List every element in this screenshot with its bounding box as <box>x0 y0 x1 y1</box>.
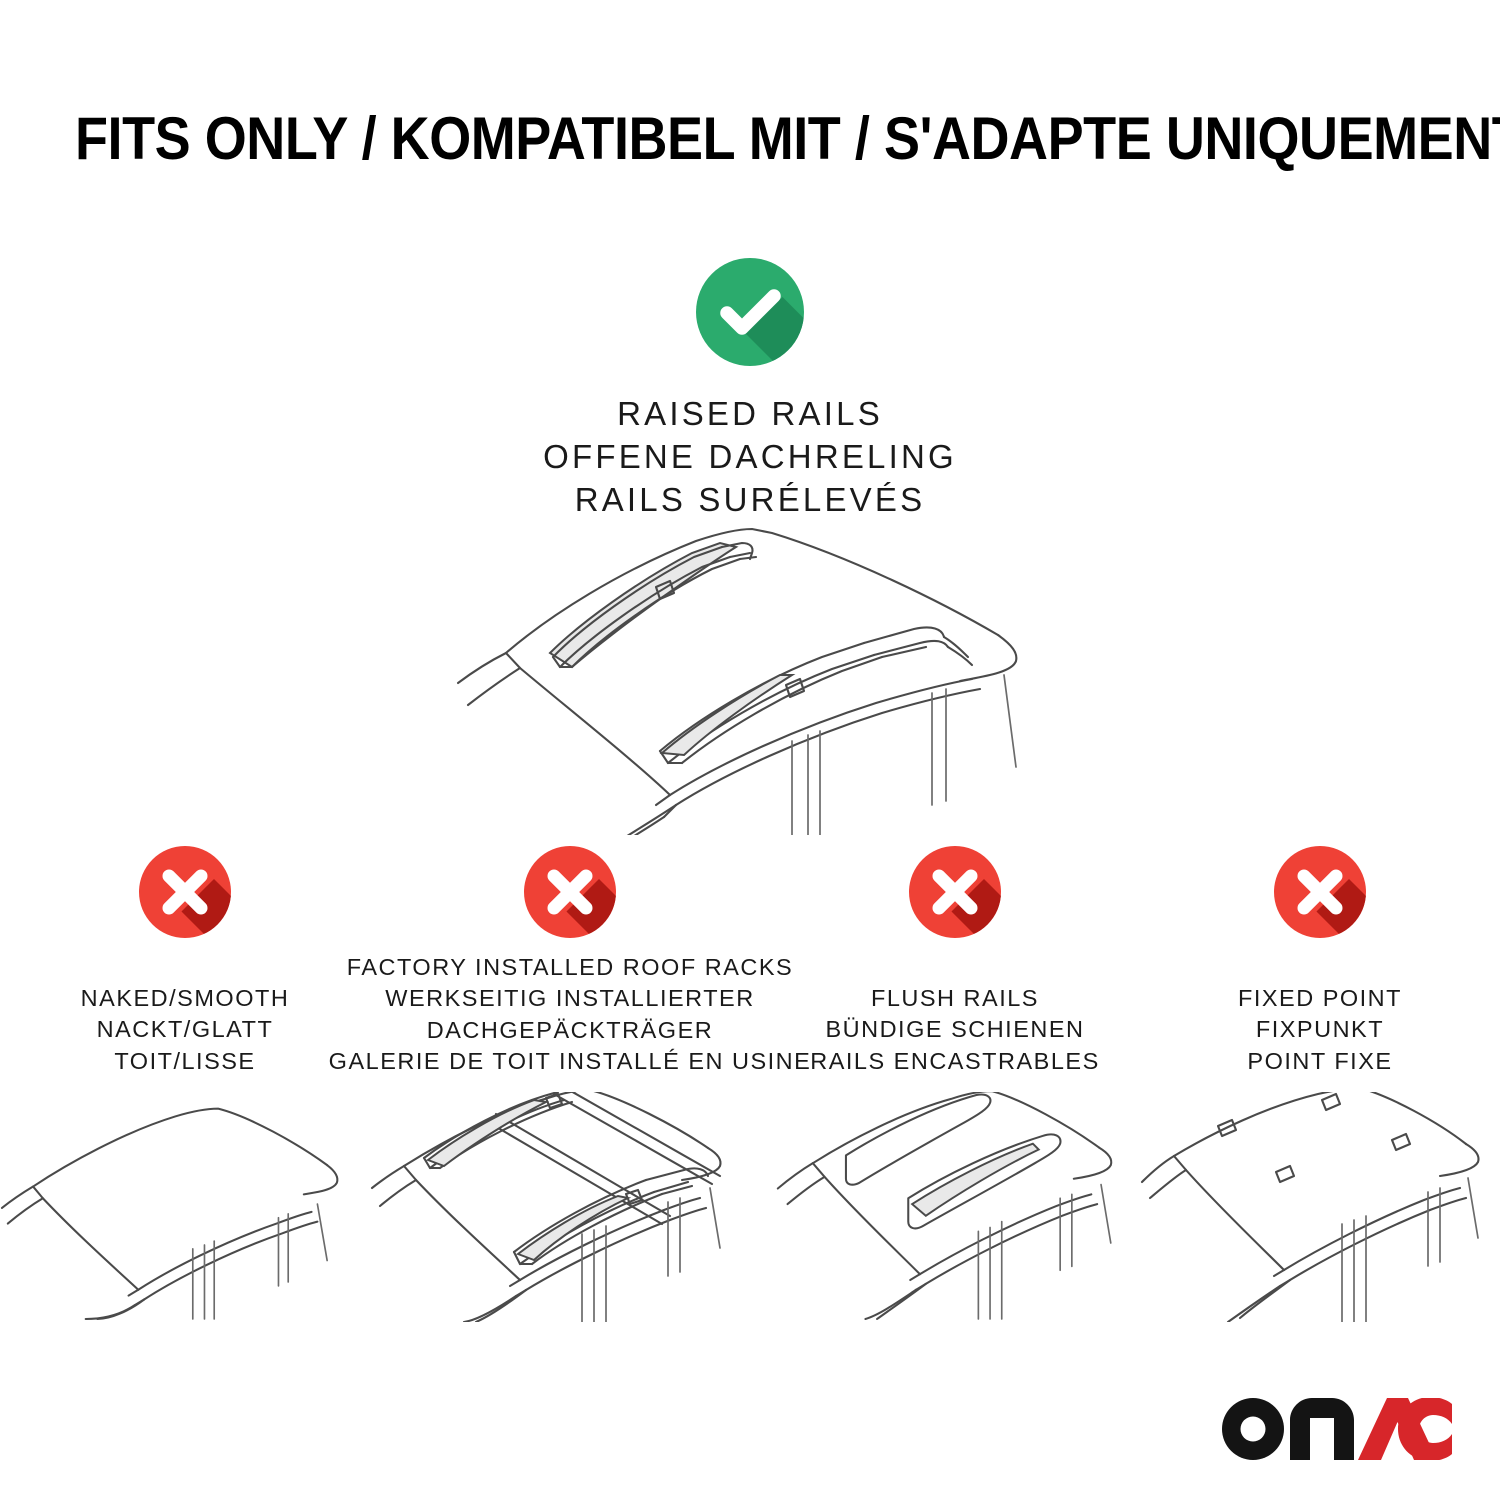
logo-letter-m <box>1290 1398 1354 1460</box>
incompatible-section: NAKED/SMOOTH NACKT/GLATT TOIT/LISSE <box>0 846 1500 1322</box>
page-title: FITS ONLY / KOMPATIBEL MIT / S'ADAPTE UN… <box>75 104 1425 173</box>
compatible-label-de: OFFENE DACHRELING <box>0 436 1500 479</box>
label-de-1: WERKSEITIG INSTALLIERTER <box>329 983 812 1014</box>
compatible-label-en: RAISED RAILS <box>0 393 1500 436</box>
x-circle-icon <box>524 846 616 938</box>
x-circle-icon <box>1274 846 1366 938</box>
omac-logo <box>1222 1398 1452 1460</box>
car-roof-factory-racks-illustration <box>370 1092 770 1322</box>
incompatible-labels: FACTORY INSTALLED ROOF RACKS WERKSEITIG … <box>329 952 812 1078</box>
label-en: FLUSH RAILS <box>810 983 1100 1014</box>
label-fr: GALERIE DE TOIT INSTALLÉ EN USINE <box>329 1046 812 1077</box>
x-circle-icon <box>139 846 231 938</box>
label-en: FIXED POINT <box>1238 983 1402 1014</box>
label-de-2: DACHGEPÄCKTRÄGER <box>329 1015 812 1046</box>
incompatible-labels: FLUSH RAILS BÜNDIGE SCHIENEN RAILS ENCAS… <box>810 952 1100 1078</box>
compatible-section: RAISED RAILS OFFENE DACHRELING RAILS SUR… <box>0 258 1500 522</box>
label-en: NAKED/SMOOTH <box>81 983 290 1014</box>
incompatible-labels: NAKED/SMOOTH NACKT/GLATT TOIT/LISSE <box>81 952 290 1078</box>
label-fr: POINT FIXE <box>1238 1046 1402 1077</box>
incompatible-item-fixed-point: FIXED POINT FIXPUNKT POINT FIXE <box>1140 846 1500 1322</box>
label-de: BÜNDIGE SCHIENEN <box>810 1014 1100 1045</box>
compatible-labels: RAISED RAILS OFFENE DACHRELING RAILS SUR… <box>0 393 1500 522</box>
incompatible-item-factory-roof-racks: FACTORY INSTALLED ROOF RACKS WERKSEITIG … <box>370 846 770 1322</box>
label-fr: TOIT/LISSE <box>81 1046 290 1077</box>
car-roof-fixed-point-illustration <box>1140 1092 1500 1322</box>
incompatible-labels: FIXED POINT FIXPUNKT POINT FIXE <box>1238 952 1402 1078</box>
label-de: NACKT/GLATT <box>81 1014 290 1045</box>
label-de: FIXPUNKT <box>1238 1014 1402 1045</box>
x-circle-icon <box>909 846 1001 938</box>
incompatible-item-flush-rails: FLUSH RAILS BÜNDIGE SCHIENEN RAILS ENCAS… <box>770 846 1140 1322</box>
fitment-info-graphic: FITS ONLY / KOMPATIBEL MIT / S'ADAPTE UN… <box>0 0 1500 1500</box>
incompatible-item-naked-smooth: NAKED/SMOOTH NACKT/GLATT TOIT/LISSE <box>0 846 370 1322</box>
label-fr: RAILS ENCASTRABLES <box>810 1046 1100 1077</box>
label-en: FACTORY INSTALLED ROOF RACKS <box>329 952 812 983</box>
car-roof-flush-rails-illustration <box>770 1092 1140 1322</box>
logo-letter-o <box>1222 1398 1284 1460</box>
car-roof-raised-rails-illustration <box>420 505 1080 835</box>
check-circle-icon <box>696 258 804 366</box>
car-roof-naked-smooth-illustration <box>0 1092 370 1322</box>
